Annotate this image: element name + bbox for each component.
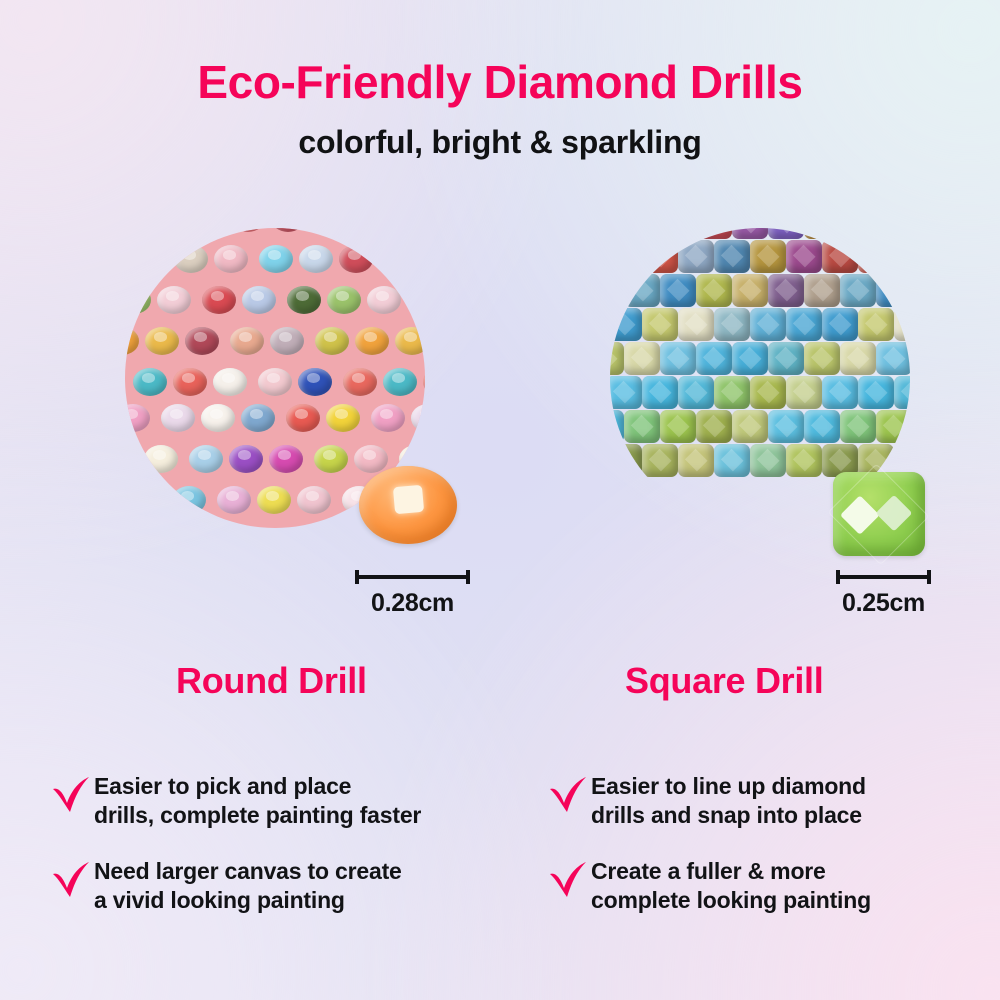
round-bead xyxy=(411,404,425,432)
square-bead xyxy=(876,228,910,239)
round-bead xyxy=(314,445,348,473)
round-bead xyxy=(297,486,331,514)
square-bead xyxy=(822,308,858,341)
bullet-line: Easier to line up diamond xyxy=(591,773,866,799)
square-bead xyxy=(876,342,910,375)
square-bead xyxy=(610,240,642,273)
square-drill-closeup xyxy=(833,472,925,556)
square-bead xyxy=(714,308,750,341)
round-bead xyxy=(354,445,388,473)
list-item: Easier to pick and place drills, complet… xyxy=(48,770,518,829)
square-bead xyxy=(804,228,840,239)
round-bead xyxy=(186,228,220,232)
round-bead xyxy=(286,404,320,432)
round-bead xyxy=(189,445,223,473)
round-bead xyxy=(311,228,345,232)
square-bead xyxy=(858,308,894,341)
square-bead xyxy=(714,376,750,409)
square-bead xyxy=(732,274,768,307)
round-bead xyxy=(157,286,191,314)
round-bead xyxy=(185,327,219,355)
round-bead xyxy=(125,228,135,232)
round-bead xyxy=(270,327,304,355)
round-bead xyxy=(258,368,292,396)
page-title: Eco-Friendly Diamond Drills xyxy=(0,58,1000,106)
measure-cap-left xyxy=(355,570,359,584)
round-bead xyxy=(242,286,276,314)
measure-cap-right xyxy=(927,570,931,584)
round-bead xyxy=(287,286,321,314)
round-bead xyxy=(339,245,373,273)
round-bead xyxy=(424,245,425,273)
round-bead xyxy=(356,228,390,232)
round-bead xyxy=(384,245,418,273)
measure-bar xyxy=(836,570,931,582)
round-bead xyxy=(355,327,389,355)
list-item: Need larger canvas to create a vivid loo… xyxy=(48,855,518,914)
square-bead xyxy=(858,240,894,273)
square-bead xyxy=(876,410,910,443)
round-bead xyxy=(326,404,360,432)
square-bead xyxy=(804,342,840,375)
square-bead xyxy=(786,376,822,409)
square-bead xyxy=(610,376,642,409)
round-bead xyxy=(132,486,166,514)
round-bead xyxy=(133,368,167,396)
square-bead xyxy=(750,240,786,273)
square-drill-heading: Square Drill xyxy=(625,660,823,702)
measure-cap-left xyxy=(836,570,840,584)
bullet-line: drills, complete painting faster xyxy=(94,802,421,828)
square-bead xyxy=(768,274,804,307)
round-bead xyxy=(367,286,401,314)
round-drill-highlight xyxy=(393,484,425,513)
bullet-line: Easier to pick and place xyxy=(94,773,351,799)
square-bead xyxy=(768,410,804,443)
square-bead xyxy=(804,274,840,307)
round-bead xyxy=(396,228,425,232)
bullet-line: complete looking painting xyxy=(591,887,871,913)
square-bead xyxy=(660,342,696,375)
round-bead xyxy=(144,445,178,473)
square-bead xyxy=(610,308,642,341)
header: Eco-Friendly Diamond Drills colorful, br… xyxy=(0,58,1000,161)
square-bead xyxy=(660,410,696,443)
square-bead xyxy=(642,376,678,409)
measure-cap-right xyxy=(466,570,470,584)
square-bead xyxy=(696,228,732,239)
square-bead xyxy=(786,444,822,477)
round-bead xyxy=(271,228,305,232)
round-bead xyxy=(269,445,303,473)
round-bead xyxy=(217,486,251,514)
square-bead xyxy=(732,342,768,375)
square-bead xyxy=(750,376,786,409)
square-bead xyxy=(624,274,660,307)
square-bead xyxy=(840,342,876,375)
square-bead xyxy=(894,240,910,273)
bullet-line: Create a fuller & more xyxy=(591,858,826,884)
round-bead xyxy=(125,286,151,314)
square-bead xyxy=(768,228,804,239)
round-bead xyxy=(146,228,180,232)
square-bead xyxy=(624,228,660,239)
square-bead xyxy=(840,410,876,443)
round-bead xyxy=(201,404,235,432)
square-bead xyxy=(894,308,910,341)
square-bead xyxy=(894,376,910,409)
square-bead xyxy=(822,240,858,273)
round-bead xyxy=(395,327,425,355)
round-bead xyxy=(125,445,138,473)
square-bead xyxy=(696,342,732,375)
page-subtitle: colorful, bright & sparkling xyxy=(0,124,1000,161)
round-bead xyxy=(298,368,332,396)
list-item: Easier to line up diamond drills and sna… xyxy=(545,770,1000,829)
round-bead xyxy=(241,404,275,432)
check-icon xyxy=(545,857,591,903)
bullet-line: Need larger canvas to create xyxy=(94,858,402,884)
list-item: Create a fuller & more complete looking … xyxy=(545,855,1000,914)
round-bead xyxy=(202,286,236,314)
square-bead xyxy=(714,240,750,273)
round-bead xyxy=(371,404,405,432)
round-bead xyxy=(214,245,248,273)
square-bead xyxy=(804,410,840,443)
round-bead xyxy=(299,245,333,273)
round-bead xyxy=(343,368,377,396)
square-bead xyxy=(624,342,660,375)
bullet-text: Need larger canvas to create a vivid loo… xyxy=(94,855,402,914)
square-drill-bullets: Easier to line up diamond drills and sna… xyxy=(545,770,1000,940)
round-bead xyxy=(259,245,293,273)
round-bead xyxy=(231,228,265,232)
round-bead xyxy=(412,286,425,314)
measure-label: 0.25cm xyxy=(836,589,931,618)
square-bead xyxy=(786,240,822,273)
round-bead xyxy=(315,327,349,355)
square-bead xyxy=(840,274,876,307)
round-drill-heading: Round Drill xyxy=(176,660,367,702)
round-drill-measurement: 0.28cm xyxy=(355,570,470,618)
square-bead xyxy=(750,308,786,341)
square-bead xyxy=(610,342,624,375)
round-bead xyxy=(327,286,361,314)
square-bead xyxy=(610,410,624,443)
round-drill-closeup xyxy=(359,466,457,544)
bullet-text: Easier to line up diamond drills and sna… xyxy=(591,770,866,829)
round-bead xyxy=(423,368,425,396)
square-bead xyxy=(750,444,786,477)
square-bead xyxy=(822,376,858,409)
square-bead xyxy=(786,308,822,341)
square-bead xyxy=(696,410,732,443)
round-bead xyxy=(129,245,163,273)
round-bead xyxy=(213,368,247,396)
square-bead xyxy=(610,228,624,239)
square-bead xyxy=(610,274,624,307)
square-bead xyxy=(840,228,876,239)
round-bead xyxy=(125,327,139,355)
square-bead xyxy=(768,342,804,375)
square-bead xyxy=(660,228,696,239)
bullet-text: Easier to pick and place drills, complet… xyxy=(94,770,421,829)
square-bead xyxy=(624,410,660,443)
square-bead xyxy=(678,240,714,273)
round-bead xyxy=(145,327,179,355)
round-bead xyxy=(125,404,150,432)
square-bead xyxy=(714,444,750,477)
check-icon xyxy=(545,772,591,818)
square-bead xyxy=(642,444,678,477)
round-bead xyxy=(161,404,195,432)
round-bead xyxy=(230,327,264,355)
round-bead xyxy=(172,486,206,514)
square-bead xyxy=(678,376,714,409)
square-bead xyxy=(732,410,768,443)
round-bead xyxy=(173,368,207,396)
round-drill-bullets: Easier to pick and place drills, complet… xyxy=(48,770,518,940)
square-drill-measurement: 0.25cm xyxy=(836,570,931,618)
bullet-line: a vivid looking painting xyxy=(94,887,345,913)
round-bead xyxy=(229,445,263,473)
round-bead xyxy=(257,486,291,514)
square-bead xyxy=(642,240,678,273)
square-bead xyxy=(678,444,714,477)
square-bead xyxy=(678,308,714,341)
square-bead xyxy=(696,274,732,307)
square-bead xyxy=(876,274,910,307)
square-bead xyxy=(610,444,642,477)
bullet-text: Create a fuller & more complete looking … xyxy=(591,855,871,914)
square-bead xyxy=(732,228,768,239)
square-bead xyxy=(660,274,696,307)
round-bead xyxy=(383,368,417,396)
square-bead xyxy=(858,376,894,409)
check-icon xyxy=(48,857,94,903)
measure-bar xyxy=(355,570,470,582)
round-bead xyxy=(174,245,208,273)
bullet-line: drills and snap into place xyxy=(591,802,862,828)
check-icon xyxy=(48,772,94,818)
measure-label: 0.28cm xyxy=(355,589,470,618)
square-bead xyxy=(642,308,678,341)
